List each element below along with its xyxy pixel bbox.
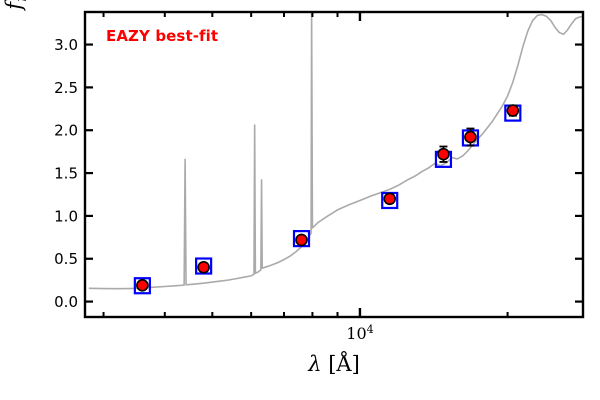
observed-photometry-point (198, 262, 209, 273)
x-axis-label-unit: [Å] (328, 352, 360, 376)
y-tick-label: 3.0 (54, 36, 78, 54)
y-tick-label: 2.0 (54, 122, 78, 140)
plot-canvas: 0.00.51.01.52.02.53.0104 (0, 0, 600, 400)
observed-photometry-point (438, 149, 449, 160)
x-tick-label: 104 (346, 323, 373, 343)
y-tick-label: 2.5 (54, 79, 78, 97)
y-tick-label: 1.5 (54, 165, 78, 183)
observed-photometry-point (507, 105, 518, 116)
observed-photometry-point (465, 132, 476, 143)
sed-figure: 0.00.51.01.52.02.53.0104 fν [arbitrarily… (0, 0, 600, 400)
y-tick-label: 1.0 (54, 207, 78, 225)
legend-annotation: EAZY best-fit (106, 27, 218, 45)
x-axis-label: λ [Å] (85, 352, 583, 376)
y-tick-label: 0.0 (54, 293, 78, 311)
y-tick-label: 0.5 (54, 250, 78, 268)
axes-frame (85, 12, 583, 317)
x-axis-label-lambda: λ (308, 352, 321, 376)
observed-photometry-point (384, 193, 395, 204)
spectrum-line (89, 10, 583, 288)
observed-photometry-point (137, 280, 148, 291)
observed-photometry-point (296, 234, 307, 245)
